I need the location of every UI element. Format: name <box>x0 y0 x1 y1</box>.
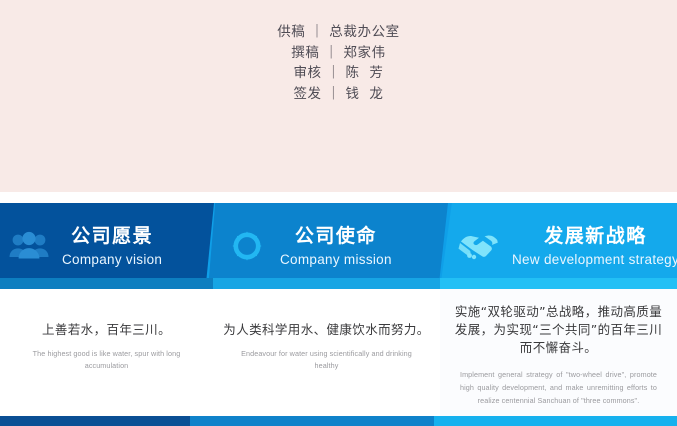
banner-title-cn-strategy: 发展新战略 <box>512 224 677 248</box>
gear-icon <box>226 226 268 266</box>
handshake-icon <box>458 226 500 266</box>
banner-text-new-strategy: 发展新战略 New development strategy <box>512 224 677 268</box>
banner-underline-segment-1 <box>0 278 213 289</box>
credit-line-writer: 撰稿 ｜ 郑家伟 <box>0 43 677 64</box>
values-banner: 公司愿景 Company vision <box>0 203 677 289</box>
content-en-mission: Endeavour for water using scientifically… <box>221 348 432 372</box>
bottom-bar-segment-light <box>434 416 677 426</box>
content-columns: 上善若水，百年三川。 The highest good is like wate… <box>0 289 677 416</box>
credit-line-reviewer: 审核 ｜ 陈 芳 <box>0 63 677 84</box>
banner-title-cn-vision: 公司愿景 <box>62 224 162 248</box>
banner-underline <box>0 278 677 289</box>
banner-underline-segment-3 <box>440 278 677 289</box>
banner-title-cn-mission: 公司使命 <box>280 224 392 248</box>
credit-line-issuer: 签发 ｜ 钱 龙 <box>0 84 677 105</box>
banner-content-new-strategy: 发展新战略 New development strategy <box>458 203 673 289</box>
banner-underline-segment-2 <box>213 278 440 289</box>
bottom-bar-segment-dark <box>0 416 190 426</box>
banner-title-en-strategy: New development strategy <box>512 252 677 268</box>
content-en-vision: The highest good is like water, spur wit… <box>12 348 201 372</box>
banner-title-en-mission: Company mission <box>280 252 392 268</box>
group-people-icon <box>8 226 50 266</box>
bottom-color-bar <box>0 416 677 426</box>
bottom-bar-segment-mid <box>190 416 434 426</box>
content-cn-mission: 为人类科学用水、健康饮水而努力。 <box>221 321 432 338</box>
content-en-strategy: Implement general strategy of "two-wheel… <box>454 368 663 407</box>
credits-panel: 供稿 ｜ 总裁办公室 撰稿 ｜ 郑家伟 审核 ｜ 陈 芳 签发 ｜ 钱 龙 <box>0 0 677 192</box>
credit-line-contributor: 供稿 ｜ 总裁办公室 <box>0 22 677 43</box>
banner-text-company-mission: 公司使命 Company mission <box>280 224 392 268</box>
content-column-strategy: 实施“双轮驱动”总战略，推动高质量发展，为实现“三个共同”的百年三川而不懈奋斗。… <box>440 289 677 416</box>
content-cn-strategy: 实施“双轮驱动”总战略，推动高质量发展，为实现“三个共同”的百年三川而不懈奋斗。 <box>454 303 663 357</box>
content-column-vision: 上善若水，百年三川。 The highest good is like wate… <box>0 289 213 416</box>
content-column-mission: 为人类科学用水、健康饮水而努力。 Endeavour for water usi… <box>213 289 440 416</box>
banner-content-company-mission: 公司使命 Company mission <box>226 203 441 289</box>
banner-content-company-vision: 公司愿景 Company vision <box>8 203 208 289</box>
banner-text-company-vision: 公司愿景 Company vision <box>62 224 162 268</box>
slide-root: 供稿 ｜ 总裁办公室 撰稿 ｜ 郑家伟 审核 ｜ 陈 芳 签发 ｜ 钱 龙 <box>0 0 677 426</box>
content-cn-vision: 上善若水，百年三川。 <box>12 321 201 338</box>
credits-list: 供稿 ｜ 总裁办公室 撰稿 ｜ 郑家伟 审核 ｜ 陈 芳 签发 ｜ 钱 龙 <box>0 22 677 104</box>
banner-title-en-vision: Company vision <box>62 252 162 268</box>
